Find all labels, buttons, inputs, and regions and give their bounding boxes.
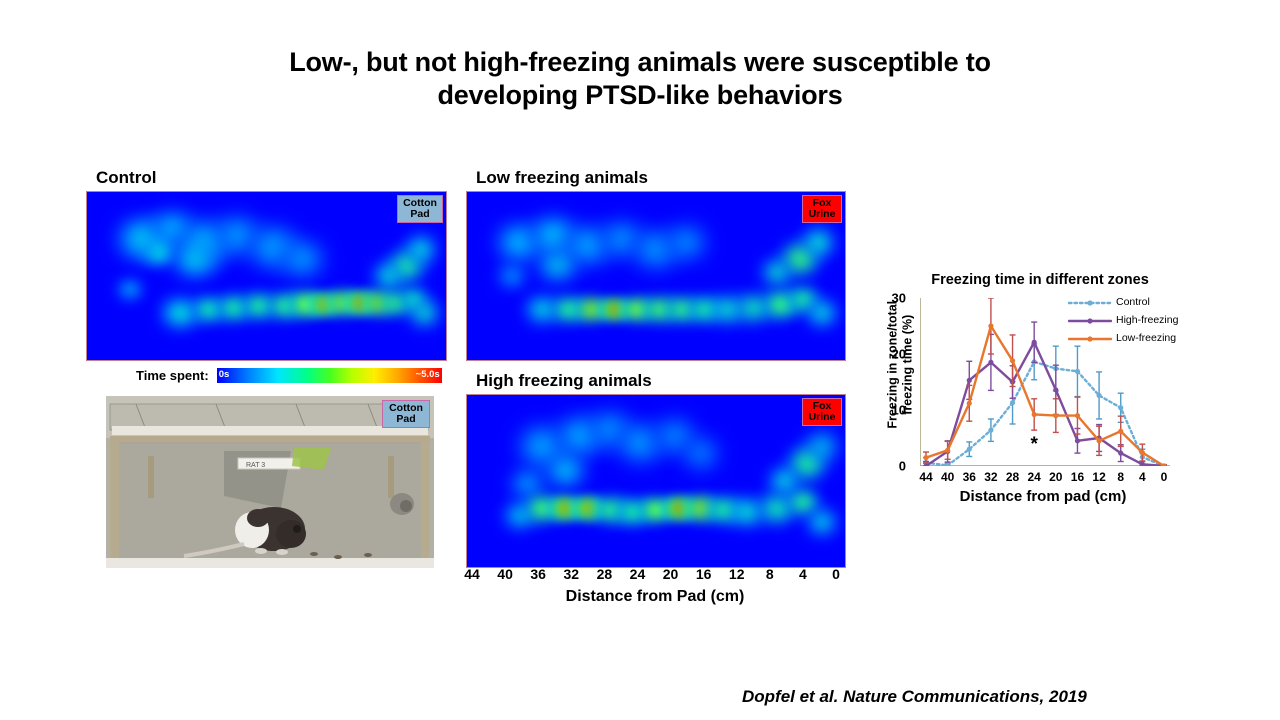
chart-x-tick: 20 [1049,470,1062,484]
page-title: Low-, but not high-freezing animals were… [180,46,1100,112]
heatmap-density-blob [170,242,220,276]
heatmap-x-tick-labels: 444036322824201612840 [466,566,844,584]
data-point [945,448,950,453]
page-title-line-2: developing PTSD-like behaviors [180,79,1100,112]
legend-key-icon [1068,332,1112,344]
badge-cotton-pad-control: CottonPad [397,195,443,223]
chart-x-tick: 32 [984,470,997,484]
page-title-line-1: Low-, but not high-freezing animals were… [180,46,1100,79]
chart-y-tick: 0 [899,459,906,474]
chart-y-tick: 20 [892,347,906,362]
legend-label: Low-freezing [1116,332,1176,344]
panel-caption-low-freezing: Low freezing animals [476,168,648,188]
data-point [1118,451,1123,456]
heatmap-density-blob [410,301,439,325]
chart-y-axis-label: Freezing in zone/total freezing time (%) [885,285,915,445]
heatmap-x-tick: 40 [497,566,513,582]
legend-item-control[interactable]: Control [1068,294,1178,310]
chamber-photo: RAT 3 CottonPad [106,396,434,568]
chart-title: Freezing time in different zones [872,272,1208,288]
colorbar-min-label: 0s [219,369,230,380]
chart-x-tick: 28 [1006,470,1019,484]
data-point [1053,387,1058,392]
heatmap-density-blob [807,301,837,325]
data-point [1053,413,1058,418]
chart-x-tick: 12 [1092,470,1105,484]
heatmap-density-blob [543,455,588,486]
heatmap-low-freezing: FoxUrine [466,191,846,361]
heatmap-density-blob [535,252,580,279]
data-point [1032,412,1037,417]
data-point [1075,413,1080,418]
data-point [967,401,972,406]
chart-x-axis-label: Distance from pad (cm) [912,488,1174,505]
legend-item-high-freezing[interactable]: High-freezing [1068,312,1178,328]
data-point [1075,438,1080,443]
citation: Dopfel et al. Nature Communications, 201… [742,687,1087,707]
heatmap-density-blob [407,236,436,263]
chart-x-tick: 16 [1071,470,1084,484]
chart-x-tick: 24 [1027,470,1040,484]
heatmap-x-tick: 32 [563,566,579,582]
heatmap-density-blob [277,242,327,276]
heatmap-x-tick: 16 [696,566,712,582]
heatmap-x-tick: 36 [530,566,546,582]
freezing-time-chart: Freezing time in different zones Freezin… [872,272,1208,520]
panel-caption-control: Control [96,168,156,188]
heatmap-x-tick: 4 [799,566,807,582]
heatmap-density-blob [762,261,792,285]
chart-x-tick: 36 [963,470,976,484]
heatmap-high-freezing: FoxUrine [466,394,846,568]
heatmap-density-blob [682,438,720,469]
legend-label: High-freezing [1116,314,1178,326]
data-point [1118,429,1123,434]
heatmap-x-tick: 28 [597,566,613,582]
heatmap-x-tick: 0 [832,566,840,582]
heatmap-density-blob [116,281,145,298]
legend-label: Control [1116,296,1150,308]
chart-legend: ControlHigh-freezingLow-freezing [1068,294,1178,348]
time-spent-colorbar: Time spent: 0s ~5.0s [136,368,442,383]
chart-x-tick: 40 [941,470,954,484]
data-point [988,360,993,365]
heatmap-density-blob [803,229,833,256]
heatmap-density-blob [807,510,837,534]
heatmap-x-axis: 444036322824201612840 Distance from Pad … [466,566,844,606]
heatmap-density-blob [374,264,403,288]
heatmap-x-tick: 12 [729,566,745,582]
badge-fox-urine-high: FoxUrine [802,398,842,426]
chart-series-control [923,344,1167,466]
chart-y-tick: 30 [892,291,906,306]
badge-cotton-pad-photo: CottonPad [382,400,430,428]
data-point [967,447,972,452]
data-point [1010,400,1015,405]
data-point [1096,393,1101,398]
chart-x-tick: 8 [1117,470,1124,484]
colorbar-label: Time spent: [136,368,209,383]
heatmap-density-blob [509,472,547,496]
data-point [1118,405,1123,410]
legend-key-icon [1068,314,1112,326]
heatmap-x-tick: 8 [766,566,774,582]
badge-fox-urine-low: FoxUrine [802,195,842,223]
chart-x-tick: 44 [919,470,932,484]
heatmap-density-blob [769,469,799,493]
panel-caption-high-freezing: High freezing animals [476,371,652,391]
heatmap-density-blob [664,226,709,260]
series-line [926,342,1164,466]
colorbar-max-label: ~5.0s [416,369,440,380]
chart-x-tick: 0 [1161,470,1168,484]
svg-text:RAT 3: RAT 3 [246,462,265,469]
data-point [1010,358,1015,363]
data-point [988,428,993,433]
legend-key-icon [1068,296,1112,308]
heatmap-x-tick: 44 [464,566,480,582]
data-point [1140,450,1145,455]
data-point [1075,369,1080,374]
data-point [1096,438,1101,443]
data-point [988,323,993,328]
chart-x-tick: 4 [1139,470,1146,484]
heatmap-density-blob [497,266,527,286]
heatmap-x-tick: 24 [630,566,646,582]
data-point [923,455,928,460]
colorbar-gradient: 0s ~5.0s [217,368,442,383]
heatmap-x-tick: 20 [663,566,679,582]
heatmap-density-blob [141,241,177,265]
significance-asterisk: * [1030,434,1037,456]
heatmap-control: CottonPad [86,191,447,361]
data-point [967,378,972,383]
heatmap-density-blob [807,433,837,461]
data-point [1032,340,1037,345]
heatmap-x-axis-title: Distance from Pad (cm) [466,588,844,606]
legend-item-low-freezing[interactable]: Low-freezing [1068,330,1178,346]
chart-y-tick: 10 [892,403,906,418]
